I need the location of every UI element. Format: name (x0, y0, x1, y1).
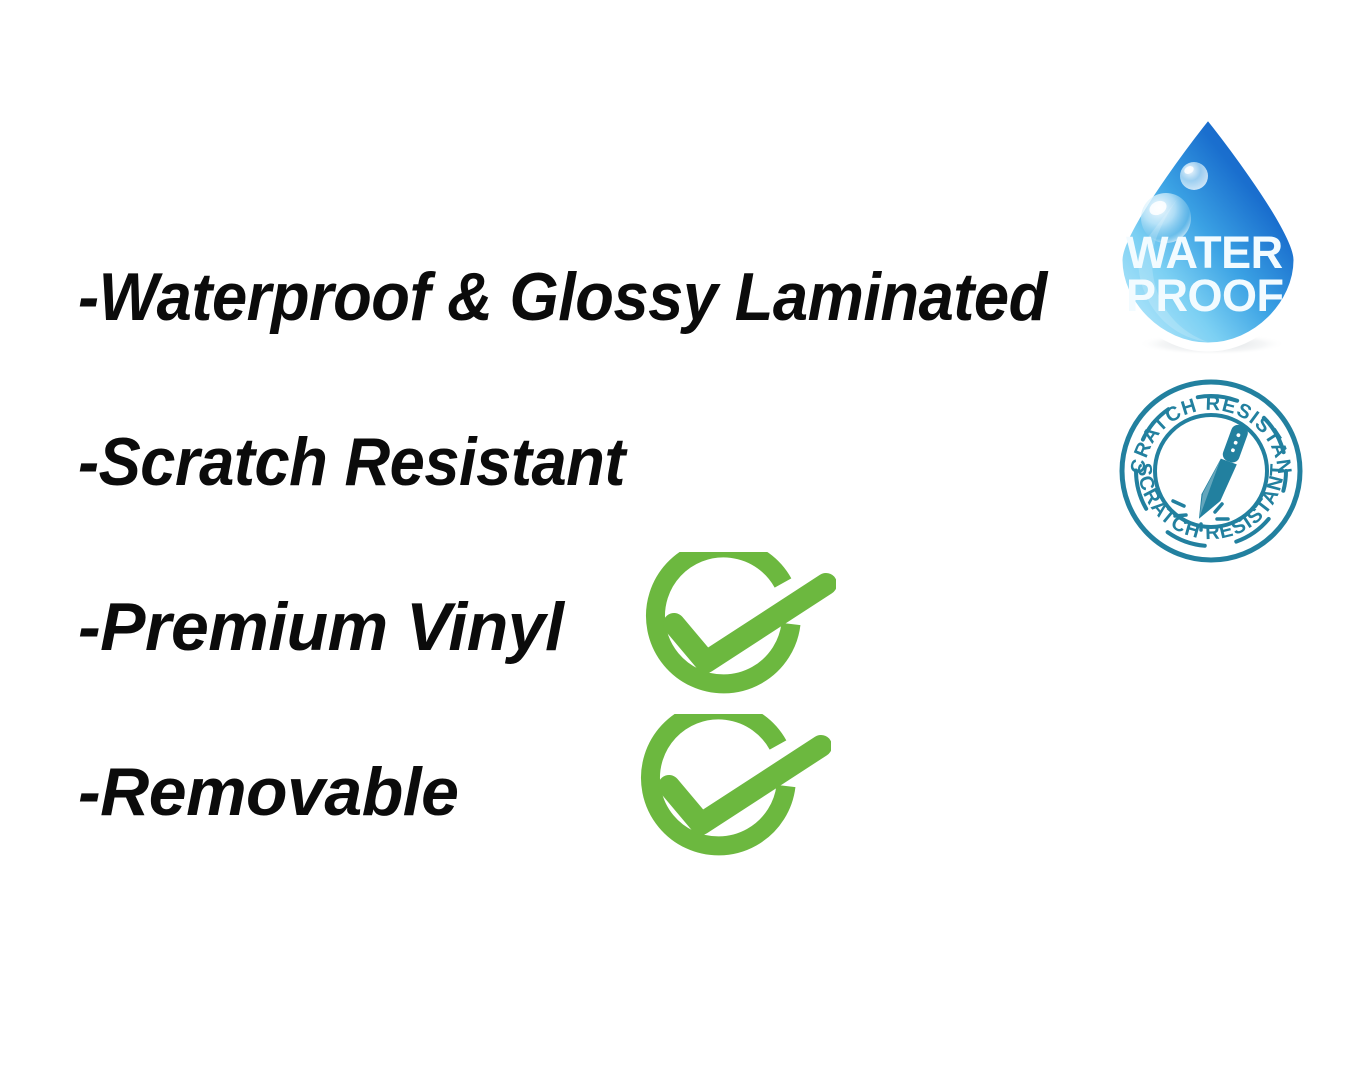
scratch-resistant-badge: SCRATCH RESISTANT SCRATCH RESISTANT (1118, 378, 1304, 564)
stamp-text-top: SCRATCH RESISTANT (1118, 378, 1295, 476)
feature-label-removable: -Removable (78, 753, 458, 831)
feature-label-premium-vinyl: -Premium Vinyl (78, 588, 564, 666)
feature-label-waterproof: -Waterproof & Glossy Laminated (78, 258, 1047, 336)
knife-icon (1193, 421, 1249, 525)
knife-blade (1193, 457, 1237, 525)
waterproof-badge: WATER PROOF (1102, 108, 1314, 356)
feature-label-scratch-resistant: -Scratch Resistant (78, 423, 625, 501)
check-circle-removable (631, 714, 831, 874)
feature-item-removable: -Removable (78, 753, 1118, 918)
check-icon (674, 584, 826, 662)
feature-list: -Waterproof & Glossy Laminated -Scratch … (78, 258, 1118, 918)
check-circle-premium-vinyl (636, 552, 836, 712)
feature-item-waterproof: -Waterproof & Glossy Laminated (78, 258, 1045, 423)
feature-item-scratch-resistant: -Scratch Resistant (78, 423, 1045, 588)
feature-item-premium-vinyl: -Premium Vinyl (78, 588, 1118, 753)
bubble-small-icon (1180, 162, 1208, 190)
waterproof-line2: PROOF (1126, 270, 1284, 321)
feature-graphic-canvas: -Waterproof & Glossy Laminated -Scratch … (0, 0, 1359, 1080)
check-icon (669, 746, 821, 824)
